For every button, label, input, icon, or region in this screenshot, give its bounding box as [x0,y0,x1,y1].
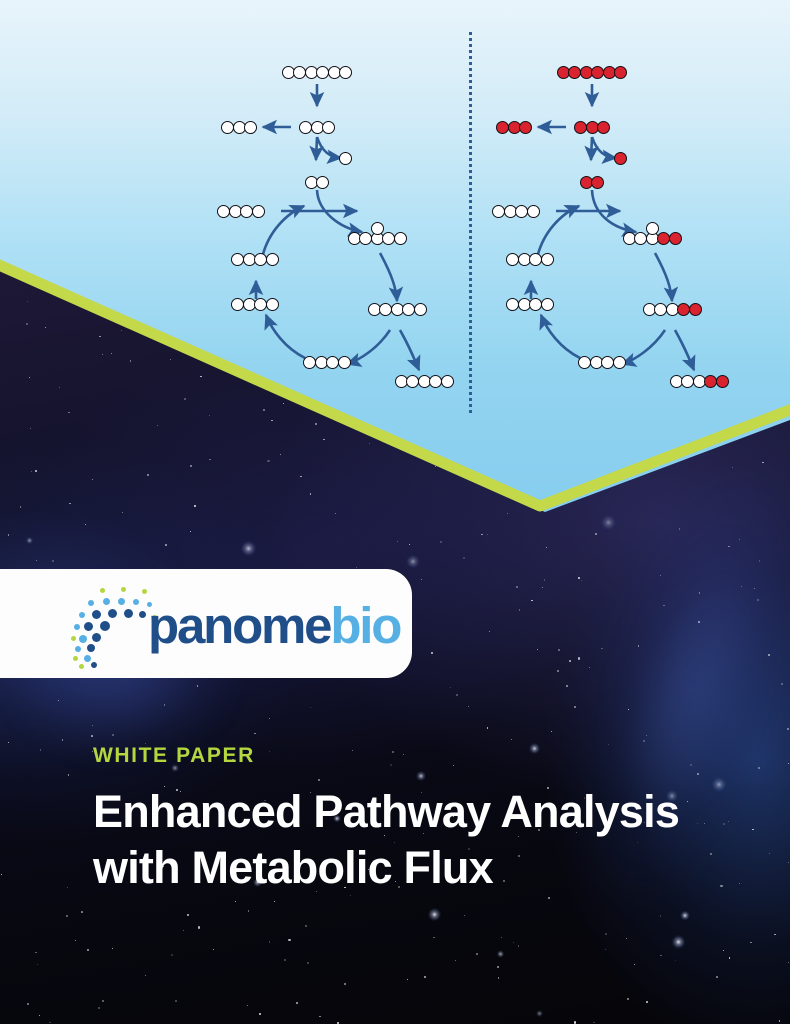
carbon-row [368,303,426,316]
carbon [266,298,279,311]
carbon-row [506,298,552,311]
carbon-row [574,121,609,134]
carbon [441,375,454,388]
panel-divider [469,32,472,413]
document-title-line-2: with Metabolic Flux [93,840,733,896]
carbon-row [506,253,552,266]
carbon-row [496,121,531,134]
carbon-row-top [371,222,383,235]
carbon-row [221,121,256,134]
carbon [339,152,352,165]
carbon-row [231,298,277,311]
document-title: Enhanced Pathway Analysis with Metabolic… [93,784,733,896]
cover-page: panomebio WHITE PAPER Enhanced Pathway A… [0,0,790,1024]
logo-card: panomebio [0,569,412,678]
carbon-row [614,152,626,165]
carbon [613,356,626,369]
carbon [252,205,265,218]
labeled-carbon [614,152,627,165]
labeled-carbon [716,375,729,388]
carbon [414,303,427,316]
carbon-row [580,176,603,189]
carbon-row [305,176,328,189]
diagram-panel [0,0,790,560]
carbon [322,121,335,134]
headline-block: WHITE PAPER Enhanced Pathway Analysis wi… [93,744,733,896]
carbon [316,176,329,189]
logo-wordmark: panomebio [148,596,400,656]
carbon-row [303,356,349,369]
pathway-arrows [0,0,790,440]
carbon [244,121,257,134]
labeled-carbon [519,121,532,134]
metabolic-pathway-figure [0,0,790,440]
carbon-row [643,303,701,316]
carbon-row [231,253,277,266]
carbon [394,232,407,245]
carbon [646,222,659,235]
logo-dot-mark-icon [70,586,152,666]
carbon [339,66,352,79]
labeled-carbon [689,303,702,316]
carbon-row [395,375,453,388]
document-type-label: WHITE PAPER [93,744,733,768]
labeled-carbon [597,121,610,134]
labeled-carbon [669,232,682,245]
document-title-line-1: Enhanced Pathway Analysis [93,784,733,840]
carbon-row [578,356,624,369]
carbon-row-top [646,222,658,235]
logo-text-panome: panome [148,597,330,654]
carbon [338,356,351,369]
carbon [541,298,554,311]
panomebio-logo: panomebio [70,586,390,666]
carbon-row [339,152,351,165]
labeled-carbon [614,66,627,79]
carbon [541,253,554,266]
carbon [527,205,540,218]
carbon [266,253,279,266]
carbon [371,222,384,235]
carbon-row [217,205,263,218]
carbon-row [557,66,626,79]
carbon-row [299,121,334,134]
carbon-row [282,66,351,79]
carbon-row [670,375,728,388]
labeled-carbon [591,176,604,189]
carbon-row [492,205,538,218]
logo-text-bio: bio [330,597,400,654]
